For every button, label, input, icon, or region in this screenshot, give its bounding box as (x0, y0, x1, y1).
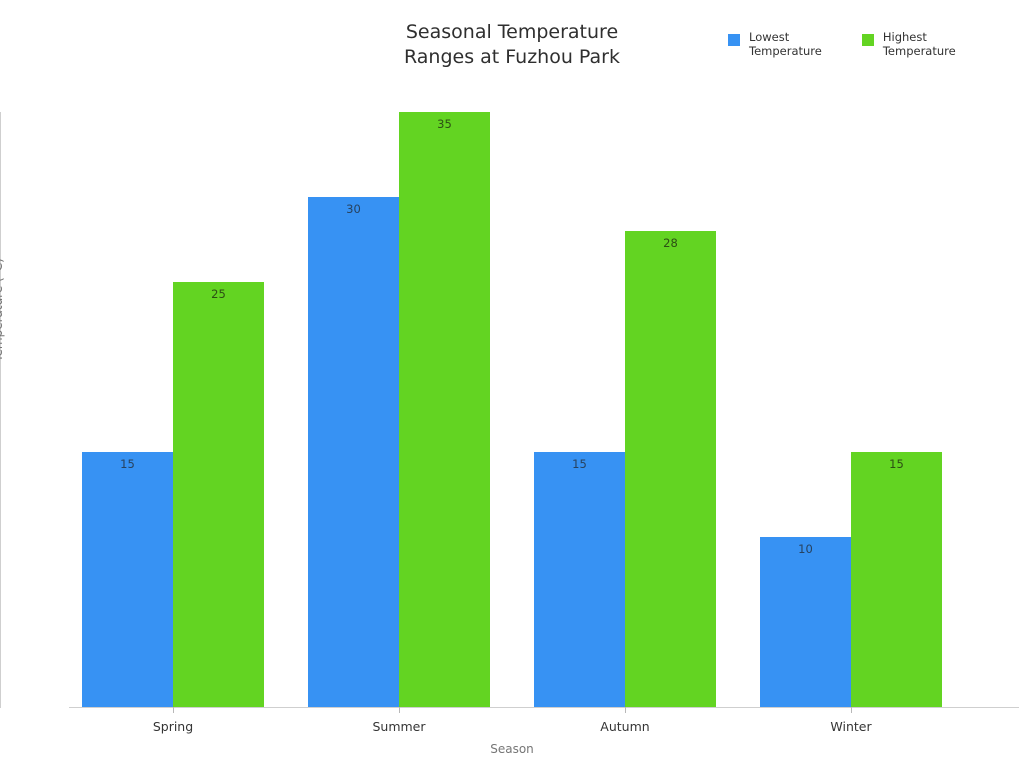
legend-item-lowest-temperature[interactable]: Lowest Temperature (728, 30, 822, 58)
bar-value-label: 15 (534, 457, 625, 471)
legend-swatch-icon-lowest (728, 34, 740, 46)
legend-label-highest: Highest Temperature (883, 30, 956, 58)
bar-autumn-lowest[interactable]: 15 (534, 452, 625, 707)
bar-summer-highest[interactable]: 35 (399, 112, 490, 707)
bar-value-label: 15 (851, 457, 942, 471)
bars-layer: 15 25 30 35 15 28 10 15 (69, 112, 1019, 707)
y-axis-line (0, 112, 1, 708)
y-axis-title: Temperature (°C) (0, 258, 5, 362)
x-tick-mark-icon (625, 707, 626, 713)
bar-value-label: 30 (308, 202, 399, 216)
bar-summer-lowest[interactable]: 30 (308, 197, 399, 707)
legend-swatch-icon-highest (862, 34, 874, 46)
x-tick-label: Spring (103, 719, 243, 734)
bar-winter-lowest[interactable]: 10 (760, 537, 851, 707)
x-tick-label: Summer (329, 719, 469, 734)
x-tick-mark-icon (173, 707, 174, 713)
chart-legend: Lowest Temperature Highest Temperature (728, 30, 956, 58)
bar-value-label: 10 (760, 542, 851, 556)
legend-label-lowest: Lowest Temperature (749, 30, 822, 58)
x-tick-mark-icon (851, 707, 852, 713)
bar-winter-highest[interactable]: 15 (851, 452, 942, 707)
bar-autumn-highest[interactable]: 28 (625, 231, 716, 707)
bar-value-label: 15 (82, 457, 173, 471)
legend-item-highest-temperature[interactable]: Highest Temperature (862, 30, 956, 58)
bar-spring-highest[interactable]: 25 (173, 282, 264, 707)
bar-value-label: 25 (173, 287, 264, 301)
x-axis-title: Season (0, 742, 1024, 756)
bar-value-label: 35 (399, 117, 490, 131)
x-tick-label: Autumn (555, 719, 695, 734)
x-axis-line (69, 707, 1019, 708)
bar-spring-lowest[interactable]: 15 (82, 452, 173, 707)
bar-value-label: 28 (625, 236, 716, 250)
x-tick-label: Winter (781, 719, 921, 734)
x-tick-mark-icon (399, 707, 400, 713)
bar-chart: Seasonal Temperature Ranges at Fuzhou Pa… (0, 0, 1024, 768)
chart-title: Seasonal Temperature Ranges at Fuzhou Pa… (300, 20, 724, 70)
